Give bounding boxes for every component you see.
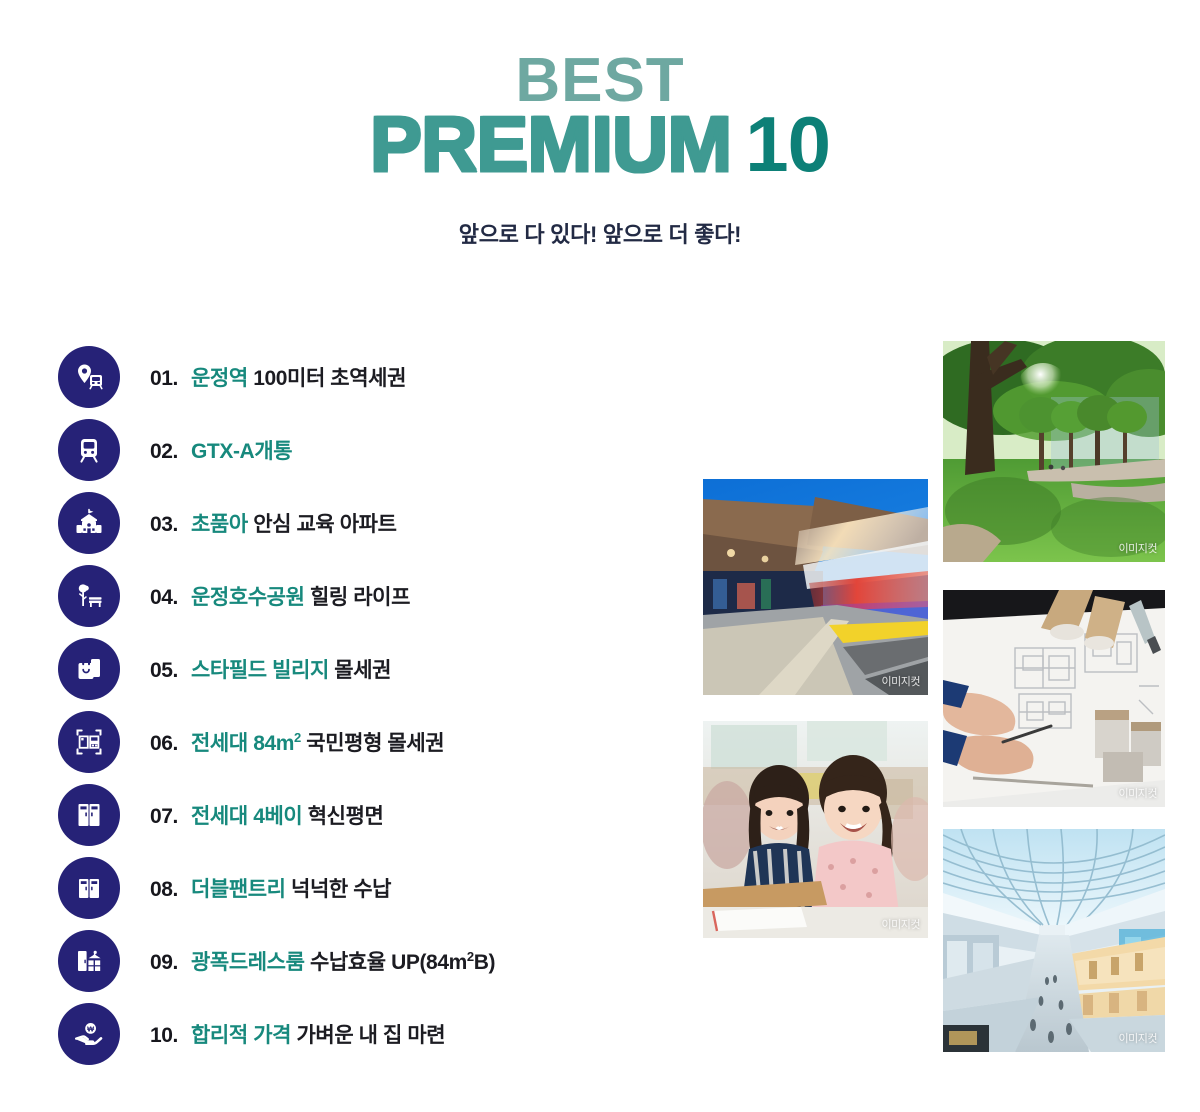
feature-row[interactable]: 03.초품아 안심 교육 아파트 [58, 486, 678, 559]
feature-row[interactable]: 06.전세대 84m2 국민평형 몰세권 [58, 705, 678, 778]
feature-row[interactable]: 08.더블팬트리 넉넉한 수납 [58, 851, 678, 924]
page-subtitle: 앞으로 다 있다! 앞으로 더 좋다! [0, 217, 1200, 249]
feature-row[interactable]: 01.운정역 100미터 초역세권 [58, 340, 678, 413]
feature-highlight: 전세대 4베이 [191, 805, 302, 828]
feature-rest: 가벼운 내 집 마련 [291, 1024, 445, 1047]
feature-number: 05. [150, 659, 178, 682]
shopping-bag-icon [58, 638, 120, 700]
floor-plan-icon [58, 711, 120, 773]
title-number: 10 [745, 105, 830, 183]
feature-rest: 몰세권 [329, 659, 391, 682]
feature-number: 02. [150, 440, 178, 463]
school-children-photo: 이미지컷 [703, 721, 928, 938]
photo-watermark: 이미지컷 [882, 673, 920, 689]
wardrobe-four-bay-icon [58, 784, 120, 846]
feature-text: 03.초품아 안심 교육 아파트 [150, 508, 397, 538]
feature-row[interactable]: 04.운정호수공원 힐링 라이프 [58, 559, 678, 632]
feature-number: 07. [150, 805, 178, 828]
feature-highlight: GTX-A개통 [191, 440, 292, 463]
feature-number: 04. [150, 586, 178, 609]
dress-room-icon [58, 930, 120, 992]
feature-highlight: 광폭드레스룸 [191, 951, 305, 974]
photo-watermark: 이미지컷 [1119, 540, 1157, 556]
train-station-photo: 이미지컷 [703, 479, 928, 695]
feature-row[interactable]: ₩ 10.합리적 가격 가벼운 내 집 마련 [58, 997, 678, 1070]
superscript-two: 2 [467, 949, 474, 964]
feature-rest: 혁신평면 [302, 805, 383, 828]
hand-won-coin-icon: ₩ [58, 1003, 120, 1065]
feature-highlight: 전세대 84m2 [191, 732, 301, 755]
photo-watermark: 이미지컷 [1119, 1030, 1157, 1046]
feature-highlight: 초품아 [191, 513, 248, 536]
double-pantry-icon [58, 857, 120, 919]
feature-text: 07.전세대 4베이 혁신평면 [150, 800, 383, 830]
school-building-icon [58, 492, 120, 554]
feature-number: 06. [150, 732, 178, 755]
page-header: BEST PREMIUM 10 앞으로 다 있다! 앞으로 더 좋다! [0, 0, 1200, 249]
feature-row[interactable]: 07.전세대 4베이 혁신평면 [58, 778, 678, 851]
park-greenery-photo: 이미지컷 [943, 341, 1165, 562]
feature-row[interactable]: 05.스타필드 빌리지 몰세권 [58, 632, 678, 705]
feature-rest: 힐링 라이프 [305, 586, 410, 609]
feature-highlight: 더블팬트리 [191, 878, 286, 901]
architect-blueprint-photo: 이미지컷 [943, 590, 1165, 807]
feature-row[interactable]: 02.GTX-A개통 [58, 413, 678, 486]
park-tree-bench-icon [58, 565, 120, 627]
feature-number: 08. [150, 878, 178, 901]
title-main-row: PREMIUM 10 [0, 105, 1200, 183]
feature-rest: 넉넉한 수납 [286, 878, 391, 901]
feature-rest: 국민평형 몰세권 [301, 732, 444, 755]
feature-rest: 안심 교육 아파트 [248, 513, 397, 536]
feature-text: 02.GTX-A개통 [150, 435, 292, 465]
feature-text: 01.운정역 100미터 초역세권 [150, 362, 406, 392]
feature-number: 09. [150, 951, 178, 974]
feature-rest: 100미터 초역세권 [248, 367, 406, 390]
feature-row[interactable]: 09.광폭드레스룸 수납효율 UP(84m2B) [58, 924, 678, 997]
photo-watermark: 이미지컷 [882, 916, 920, 932]
train-icon [58, 419, 120, 481]
feature-number: 01. [150, 367, 178, 390]
promo-page: BEST PREMIUM 10 앞으로 다 있다! 앞으로 더 좋다! [0, 0, 1200, 1112]
feature-highlight: 합리적 가격 [191, 1024, 291, 1047]
feature-text: 10.합리적 가격 가벼운 내 집 마련 [150, 1019, 445, 1049]
feature-text: 04.운정호수공원 힐링 라이프 [150, 581, 410, 611]
feature-text: 05.스타필드 빌리지 몰세권 [150, 654, 391, 684]
shopping-mall-photo: 이미지컷 [943, 829, 1165, 1052]
title-premium: PREMIUM [370, 105, 731, 183]
feature-highlight: 운정호수공원 [191, 586, 305, 609]
feature-list: 01.운정역 100미터 초역세권 02.GTX-A개통 [58, 340, 678, 1070]
feature-text: 09.광폭드레스룸 수납효율 UP(84m2B) [150, 946, 495, 976]
feature-highlight: 운정역 [191, 367, 248, 390]
feature-highlight: 스타필드 빌리지 [191, 659, 329, 682]
photo-watermark: 이미지컷 [1119, 785, 1157, 801]
superscript-two: 2 [294, 730, 301, 745]
feature-number: 03. [150, 513, 178, 536]
feature-text: 08.더블팬트리 넉넉한 수납 [150, 873, 391, 903]
svg-text:₩: ₩ [87, 1024, 94, 1033]
location-pin-train-icon [58, 346, 120, 408]
feature-rest: 수납효율 UP(84m2B) [305, 951, 496, 974]
feature-number: 10. [150, 1024, 178, 1047]
feature-text: 06.전세대 84m2 국민평형 몰세권 [150, 727, 444, 757]
